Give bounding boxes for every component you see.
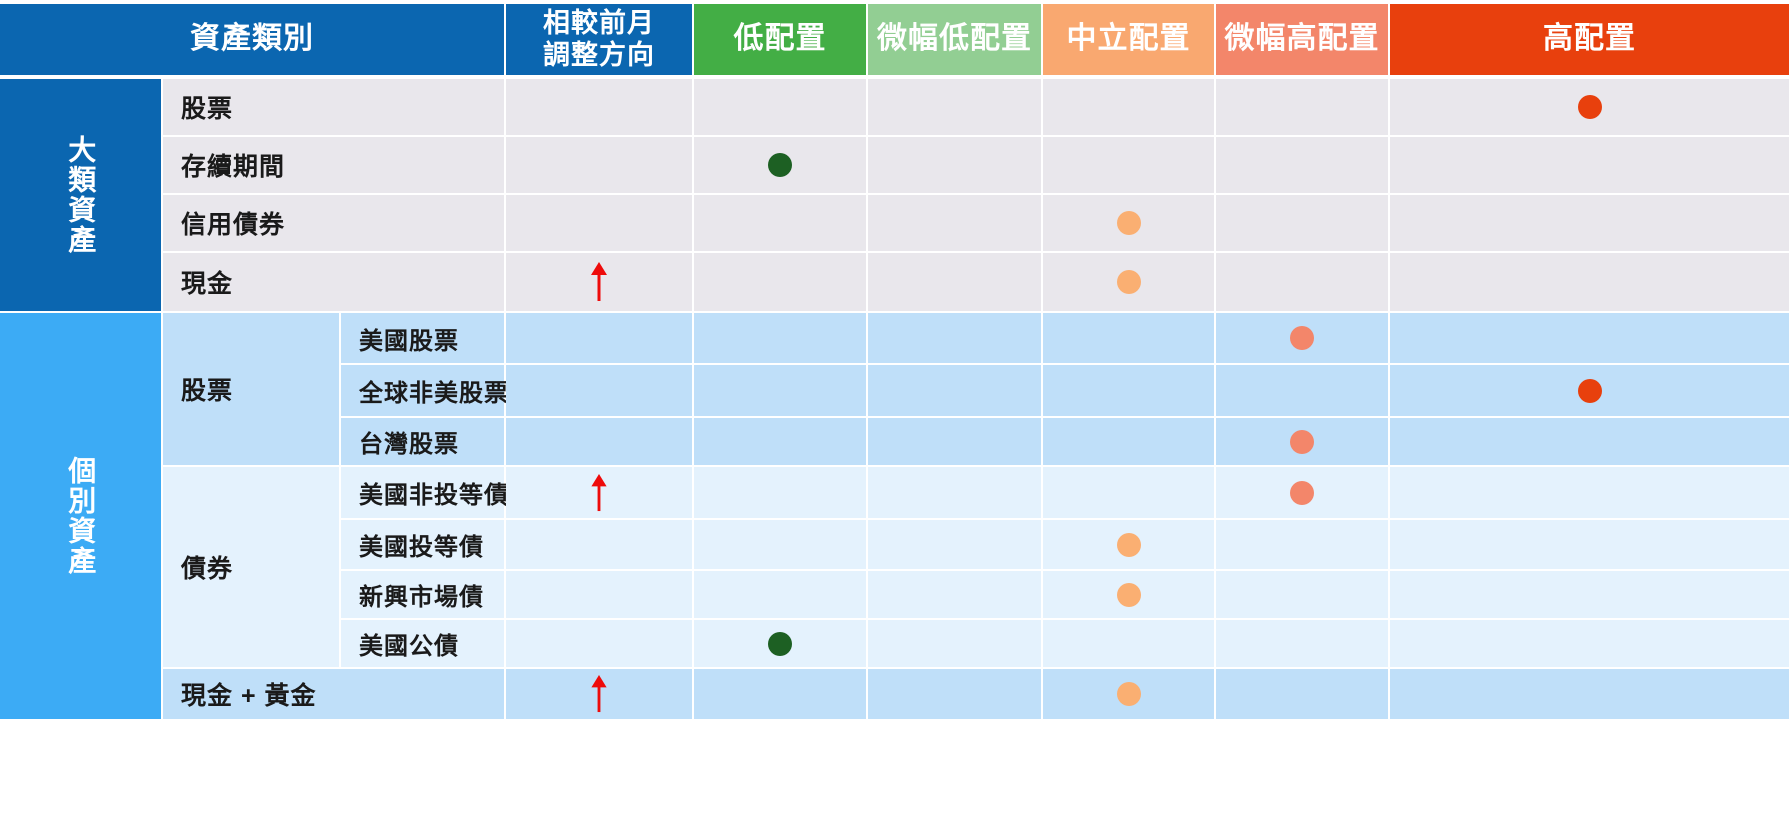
level-cell-us-treasuries-high xyxy=(1390,620,1789,667)
level-cell-credit-bonds-slightly-low xyxy=(868,195,1041,251)
header-change-direction: 相較前月 調整方向 xyxy=(506,4,692,75)
level-cell-cash-gold-slightly-high xyxy=(1216,669,1388,719)
row-label-us-treasuries-text: 美國公債 xyxy=(359,626,459,661)
allocation-dot xyxy=(768,632,792,656)
group-label-equities-text: 股票 xyxy=(181,371,233,407)
row-label-cash-gold: 現金 + 黃金 xyxy=(163,669,504,719)
level-cell-us-ig-neutral xyxy=(1043,520,1214,569)
row-label-em-debt-text: 新興市場債 xyxy=(359,577,484,612)
level-cell-us-equities-high xyxy=(1390,313,1789,363)
header-level-low: 低配置 xyxy=(694,4,866,75)
allocation-dot xyxy=(1117,682,1141,706)
header-level-slightly-low: 微幅低配置 xyxy=(868,4,1041,75)
level-cell-global-ex-us-equities-slightly-low xyxy=(868,365,1041,416)
header-level-slightly-high-label: 微幅高配置 xyxy=(1225,22,1380,57)
level-cell-global-ex-us-equities-slightly-high xyxy=(1216,365,1388,416)
level-cell-us-treasuries-slightly-high xyxy=(1216,620,1388,667)
row-label-us-high-yield: 美國非投等債 xyxy=(341,467,504,518)
level-cell-equities-slightly-high xyxy=(1216,79,1388,135)
allocation-dot xyxy=(1117,270,1141,294)
level-cell-equities-high xyxy=(1390,79,1789,135)
direction-cell-us-ig xyxy=(506,520,692,569)
level-cell-cash-gold-neutral xyxy=(1043,669,1214,719)
direction-cell-duration xyxy=(506,137,692,193)
level-cell-em-debt-slightly-high xyxy=(1216,571,1388,618)
level-cell-cash-gold-slightly-low xyxy=(868,669,1041,719)
level-cell-duration-slightly-high xyxy=(1216,137,1388,193)
allocation-dot xyxy=(768,153,792,177)
level-cell-us-equities-slightly-low xyxy=(868,313,1041,363)
row-label-global-ex-us-equities-text: 全球非美股票 xyxy=(359,373,509,408)
level-cell-equities-low xyxy=(694,79,866,135)
level-cell-cash-low xyxy=(694,253,866,311)
level-cell-credit-bonds-neutral xyxy=(1043,195,1214,251)
level-cell-cash-slightly-low xyxy=(868,253,1041,311)
arrow-up-icon xyxy=(588,474,610,512)
direction-cell-us-equities xyxy=(506,313,692,363)
level-cell-us-treasuries-low xyxy=(694,620,866,667)
row-label-cash: 現金 xyxy=(163,253,504,311)
header-asset-class-label: 資產類別 xyxy=(190,22,314,57)
direction-cell-equities xyxy=(506,79,692,135)
row-label-equities: 股票 xyxy=(163,79,504,135)
group-label-bonds: 債券 xyxy=(163,467,339,667)
row-label-credit-bonds: 信用債券 xyxy=(163,195,504,251)
section-label-individual-assets-text: 個別資產 xyxy=(65,456,96,576)
row-label-duration-text: 存續期間 xyxy=(181,147,285,183)
section-label-major-assets: 大類資產 xyxy=(0,79,161,311)
section-label-major-assets-text: 大類資產 xyxy=(65,135,96,255)
allocation-dot xyxy=(1290,326,1314,350)
allocation-dot xyxy=(1117,211,1141,235)
level-cell-us-equities-low xyxy=(694,313,866,363)
level-cell-us-high-yield-high xyxy=(1390,467,1789,518)
level-cell-us-high-yield-slightly-low xyxy=(868,467,1041,518)
header-level-high: 高配置 xyxy=(1390,4,1789,75)
level-cell-credit-bonds-high xyxy=(1390,195,1789,251)
level-cell-taiwan-equities-high xyxy=(1390,418,1789,465)
level-cell-duration-slightly-low xyxy=(868,137,1041,193)
level-cell-us-ig-low xyxy=(694,520,866,569)
level-cell-us-ig-high xyxy=(1390,520,1789,569)
level-cell-duration-neutral xyxy=(1043,137,1214,193)
allocation-dot xyxy=(1578,95,1602,119)
level-cell-cash-gold-low xyxy=(694,669,866,719)
level-cell-us-high-yield-low xyxy=(694,467,866,518)
header-level-neutral-label: 中立配置 xyxy=(1067,22,1191,57)
header-level-high-label: 高配置 xyxy=(1543,22,1636,57)
level-cell-global-ex-us-equities-low xyxy=(694,365,866,416)
header-level-neutral: 中立配置 xyxy=(1043,4,1214,75)
level-cell-cash-high xyxy=(1390,253,1789,311)
header-change-direction-line2: 調整方向 xyxy=(543,40,655,71)
level-cell-em-debt-low xyxy=(694,571,866,618)
level-cell-equities-slightly-low xyxy=(868,79,1041,135)
allocation-dot xyxy=(1290,430,1314,454)
level-cell-em-debt-neutral xyxy=(1043,571,1214,618)
level-cell-global-ex-us-equities-neutral xyxy=(1043,365,1214,416)
level-cell-us-high-yield-slightly-high xyxy=(1216,467,1388,518)
level-cell-taiwan-equities-slightly-low xyxy=(868,418,1041,465)
direction-cell-global-ex-us-equities xyxy=(506,365,692,416)
arrow-up-icon xyxy=(588,675,610,713)
allocation-dot xyxy=(1117,583,1141,607)
level-cell-duration-low xyxy=(694,137,866,193)
level-cell-global-ex-us-equities-high xyxy=(1390,365,1789,416)
allocation-table: 資產類別 相較前月 調整方向 低配置 微幅低配置 中立配置 微幅高配置 高配置 … xyxy=(0,0,1789,833)
level-cell-us-treasuries-neutral xyxy=(1043,620,1214,667)
group-label-bonds-text: 債券 xyxy=(181,549,233,585)
header-level-slightly-low-label: 微幅低配置 xyxy=(877,22,1032,57)
level-cell-em-debt-slightly-low xyxy=(868,571,1041,618)
allocation-dot xyxy=(1578,379,1602,403)
row-label-credit-bonds-text: 信用債券 xyxy=(181,205,285,241)
level-cell-us-equities-neutral xyxy=(1043,313,1214,363)
level-cell-taiwan-equities-low xyxy=(694,418,866,465)
level-cell-us-ig-slightly-low xyxy=(868,520,1041,569)
header-change-direction-line1: 相較前月 xyxy=(543,8,655,39)
group-label-equities: 股票 xyxy=(163,313,339,465)
row-label-taiwan-equities: 台灣股票 xyxy=(341,418,504,465)
level-cell-credit-bonds-slightly-high xyxy=(1216,195,1388,251)
row-label-cash-gold-text: 現金 + 黃金 xyxy=(181,676,317,712)
row-label-taiwan-equities-text: 台灣股票 xyxy=(359,424,459,459)
level-cell-credit-bonds-low xyxy=(694,195,866,251)
row-label-us-high-yield-text: 美國非投等債 xyxy=(359,475,509,510)
row-label-duration: 存續期間 xyxy=(163,137,504,193)
header-level-slightly-high: 微幅高配置 xyxy=(1216,4,1388,75)
level-cell-duration-high xyxy=(1390,137,1789,193)
row-label-us-ig-text: 美國投等債 xyxy=(359,527,484,562)
header-asset-class: 資產類別 xyxy=(0,4,504,75)
row-label-equities-text: 股票 xyxy=(181,89,233,125)
level-cell-us-treasuries-slightly-low xyxy=(868,620,1041,667)
direction-cell-cash xyxy=(506,253,692,311)
allocation-dot xyxy=(1290,481,1314,505)
level-cell-equities-neutral xyxy=(1043,79,1214,135)
row-label-us-equities: 美國股票 xyxy=(341,313,504,363)
row-label-em-debt: 新興市場債 xyxy=(341,571,504,618)
level-cell-taiwan-equities-slightly-high xyxy=(1216,418,1388,465)
level-cell-us-high-yield-neutral xyxy=(1043,467,1214,518)
direction-cell-us-high-yield xyxy=(506,467,692,518)
level-cell-cash-neutral xyxy=(1043,253,1214,311)
allocation-dot xyxy=(1117,533,1141,557)
section-label-individual-assets: 個別資產 xyxy=(0,313,161,719)
level-cell-em-debt-high xyxy=(1390,571,1789,618)
direction-cell-credit-bonds xyxy=(506,195,692,251)
row-label-us-treasuries: 美國公債 xyxy=(341,620,504,667)
row-label-us-equities-text: 美國股票 xyxy=(359,321,459,356)
arrow-up-icon xyxy=(588,262,610,302)
direction-cell-us-treasuries xyxy=(506,620,692,667)
row-label-us-ig: 美國投等債 xyxy=(341,520,504,569)
level-cell-us-equities-slightly-high xyxy=(1216,313,1388,363)
row-label-global-ex-us-equities: 全球非美股票 xyxy=(341,365,504,416)
row-label-cash-text: 現金 xyxy=(181,264,233,300)
level-cell-cash-slightly-high xyxy=(1216,253,1388,311)
direction-cell-cash-gold xyxy=(506,669,692,719)
level-cell-taiwan-equities-neutral xyxy=(1043,418,1214,465)
level-cell-cash-gold-high xyxy=(1390,669,1789,719)
direction-cell-em-debt xyxy=(506,571,692,618)
level-cell-us-ig-slightly-high xyxy=(1216,520,1388,569)
header-level-low-label: 低配置 xyxy=(734,22,827,57)
direction-cell-taiwan-equities xyxy=(506,418,692,465)
